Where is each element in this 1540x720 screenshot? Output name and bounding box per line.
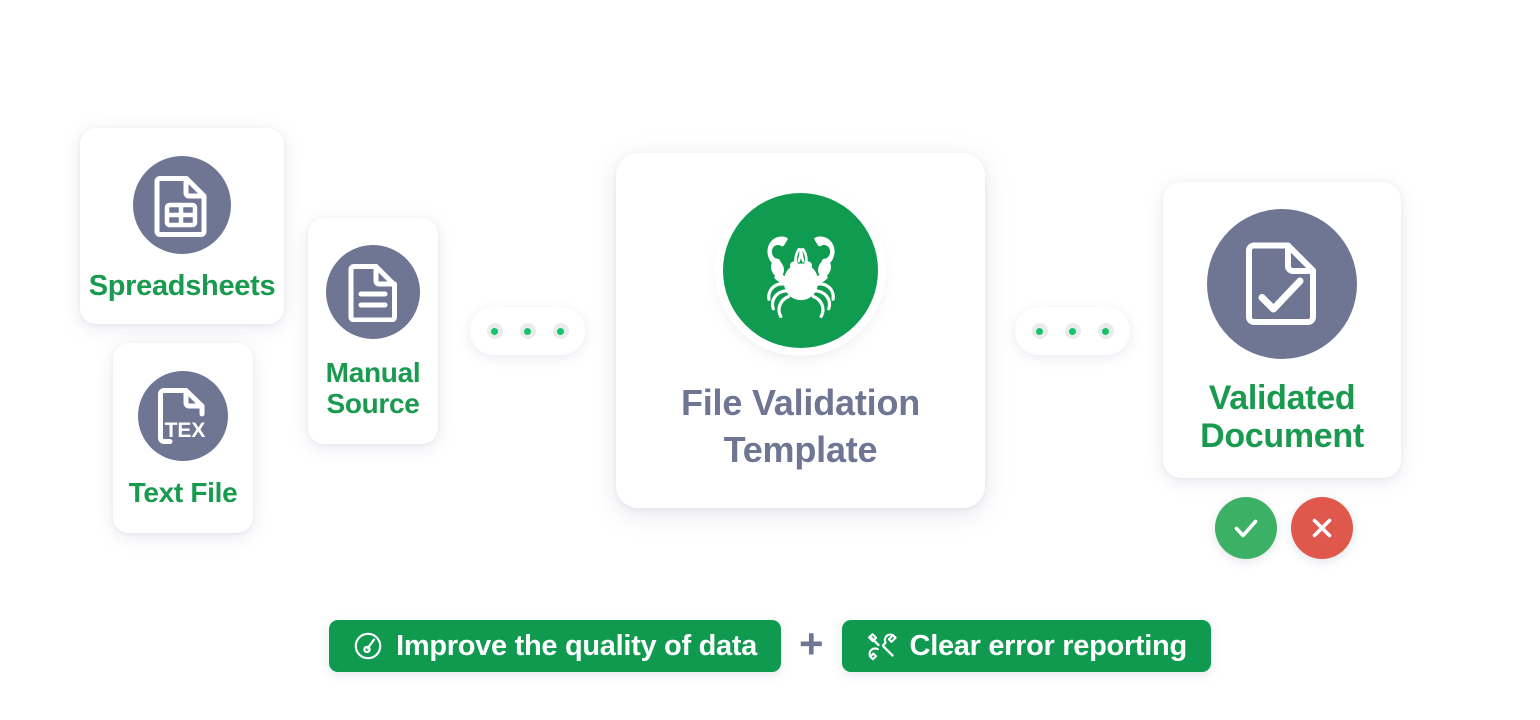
connector-dot xyxy=(487,323,503,339)
output-card-label-line2: Document xyxy=(1200,417,1364,455)
status-badge-invalid[interactable] xyxy=(1291,497,1353,559)
status-badge-valid[interactable] xyxy=(1215,497,1277,559)
template-card-title-line2: Template xyxy=(681,427,920,474)
manual-source-icon-badge xyxy=(326,245,420,339)
gauge-icon xyxy=(353,631,383,661)
source-card-label: Spreadsheets xyxy=(89,270,276,302)
document-check-icon xyxy=(1245,241,1319,327)
template-card-title-line1: File Validation xyxy=(681,380,920,427)
source-card-label-line1: Manual xyxy=(326,357,421,388)
check-icon xyxy=(1230,512,1262,544)
connector-dot xyxy=(1065,323,1081,339)
source-card-label: Text File xyxy=(129,477,238,508)
crab-logo-icon xyxy=(745,215,857,327)
source-card-label: Manual Source xyxy=(326,357,421,420)
source-card-textfile[interactable]: TEX Text File xyxy=(113,343,253,533)
spreadsheet-icon-badge xyxy=(133,156,231,254)
feature-pill-quality[interactable]: Improve the quality of data xyxy=(329,620,781,672)
connector-dot xyxy=(1032,323,1048,339)
close-icon xyxy=(1306,512,1338,544)
connector-dot xyxy=(1098,323,1114,339)
text-file-icon-badge: TEX xyxy=(138,371,228,461)
source-card-spreadsheets[interactable]: Spreadsheets xyxy=(80,128,284,324)
text-file-icon: TEX xyxy=(156,386,210,446)
feature-pill-label: Improve the quality of data xyxy=(396,630,757,663)
crab-logo-badge xyxy=(723,193,878,348)
feature-pill-errors[interactable]: Clear error reporting xyxy=(842,620,1211,672)
diagram-canvas: Spreadsheets TEX Text File Manual Source xyxy=(0,0,1540,720)
feature-pill-row: Improve the quality of data + Clear erro… xyxy=(0,620,1540,672)
connector-dot xyxy=(553,323,569,339)
feature-separator: + xyxy=(799,623,824,669)
template-card-title: File Validation Template xyxy=(681,380,920,474)
feature-pill-label: Clear error reporting xyxy=(910,630,1187,663)
source-card-manual[interactable]: Manual Source xyxy=(308,218,438,444)
validation-status-row xyxy=(1215,497,1353,559)
output-card-label: Validated Document xyxy=(1200,379,1364,455)
template-card[interactable]: File Validation Template xyxy=(616,153,985,508)
tools-icon xyxy=(866,631,897,661)
document-lines-icon xyxy=(347,262,399,322)
spreadsheet-file-icon xyxy=(154,173,210,237)
connector-template-to-output xyxy=(1015,307,1130,355)
source-card-label-line2: Source xyxy=(326,388,421,419)
connector-sources-to-template xyxy=(470,307,585,355)
connector-dot xyxy=(520,323,536,339)
output-card-validated-document[interactable]: Validated Document xyxy=(1163,182,1401,478)
validated-document-icon-badge xyxy=(1207,209,1357,359)
output-card-label-line1: Validated xyxy=(1200,379,1364,417)
text-file-icon-text: TEX xyxy=(165,419,206,442)
